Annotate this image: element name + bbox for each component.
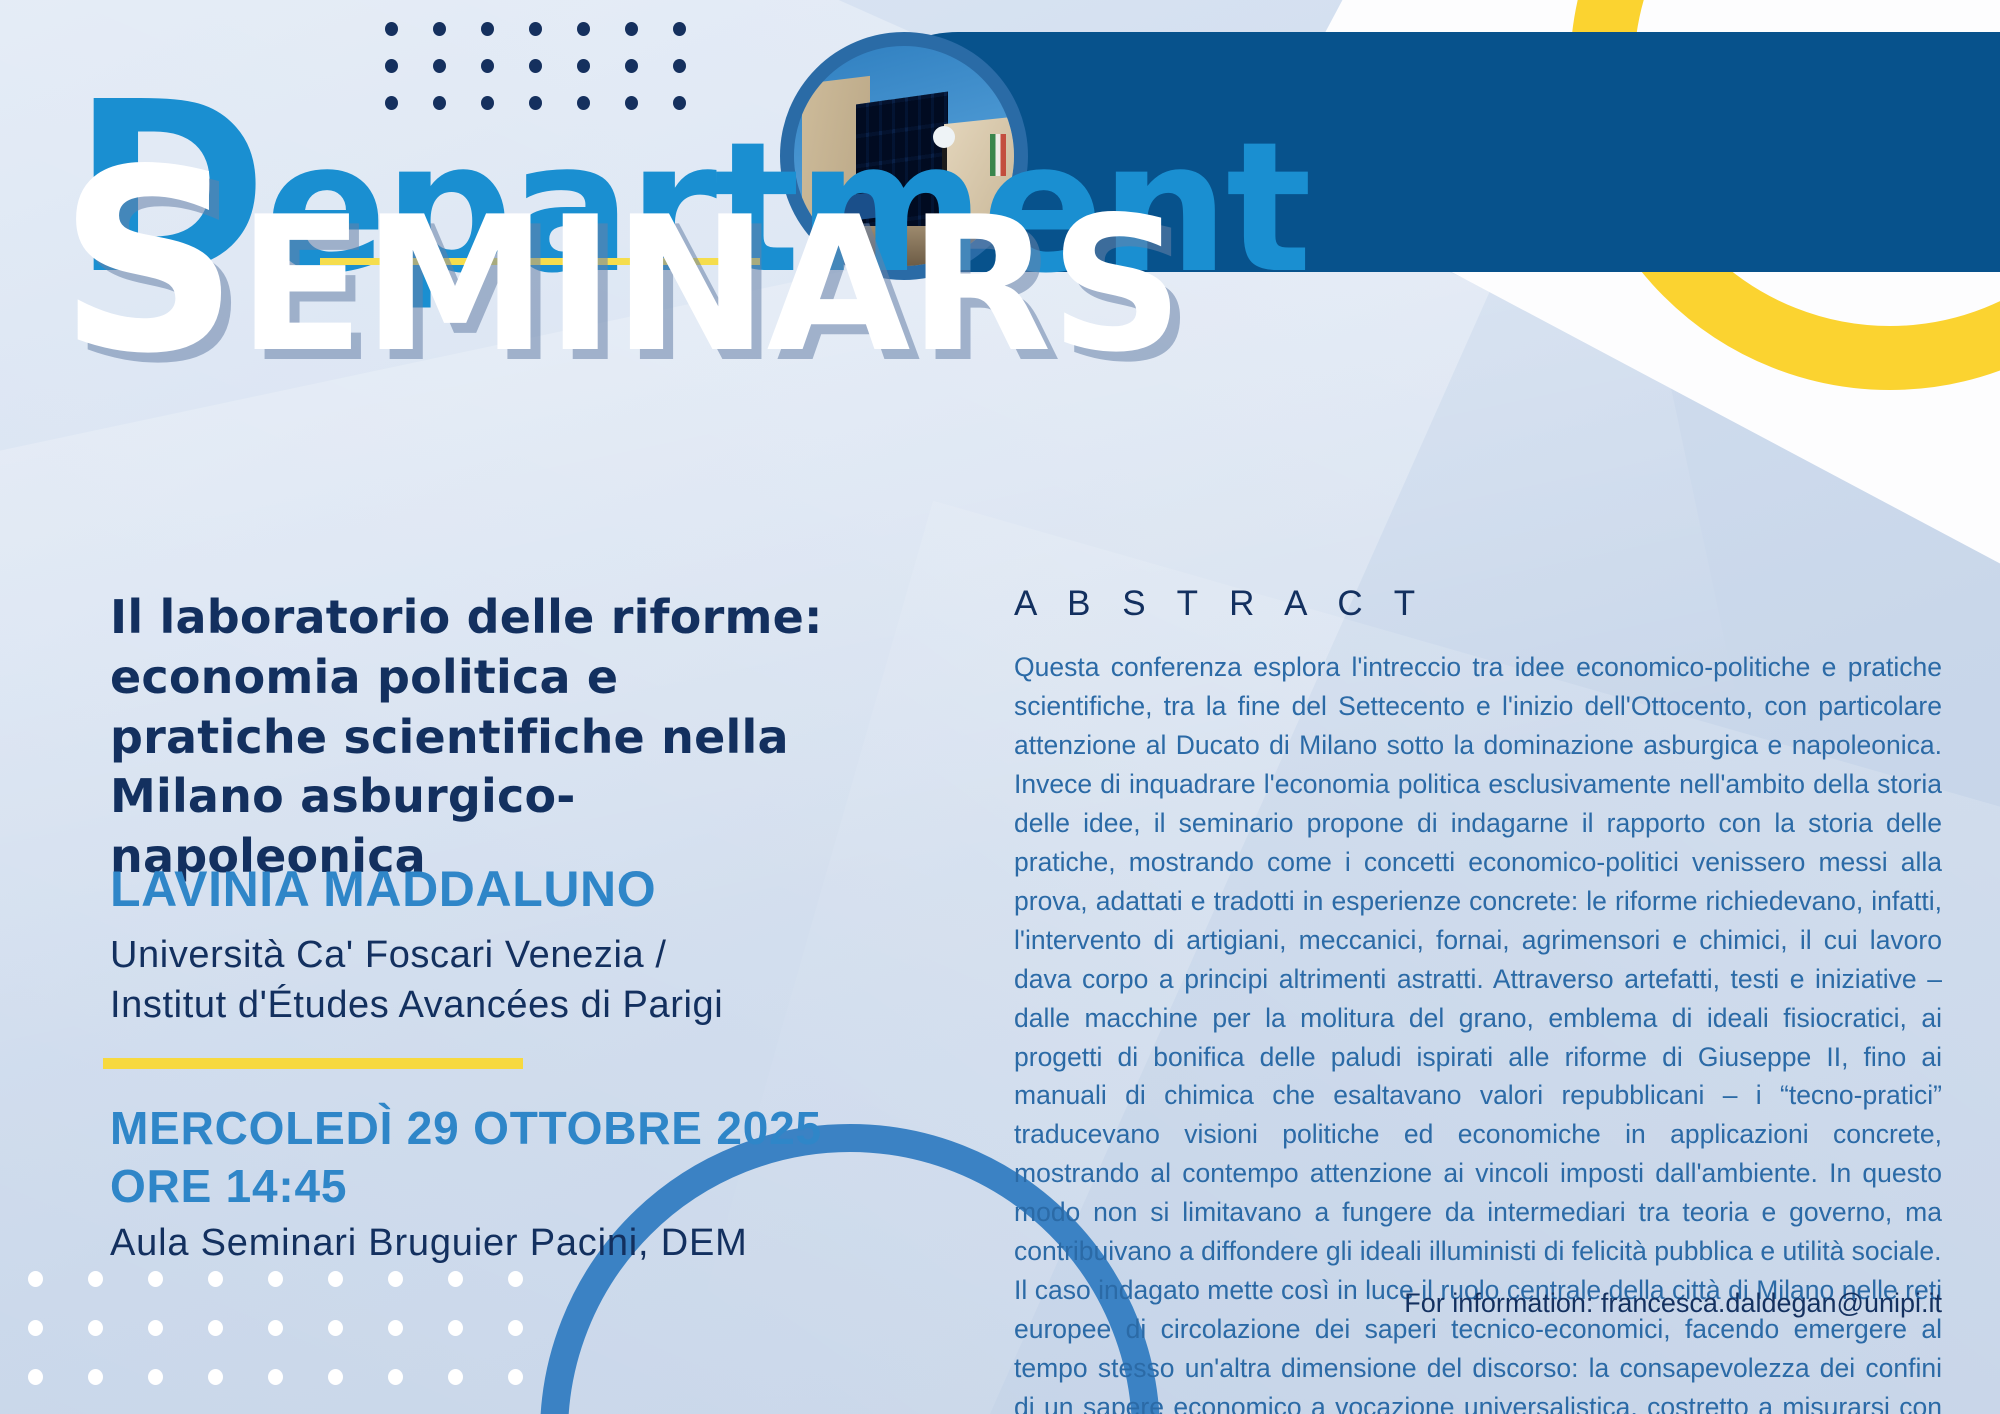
dot-grid-bottom [28,1271,568,1414]
masthead-seminars-rest: EMINARS [238,176,1182,393]
contact-info: For information: francesca.daldegan@unip… [1014,1288,1942,1319]
speaker-affiliation-line1: Università Ca' Foscari Venezia / [110,930,850,980]
speaker-name: LAVINIA MADDALUNO [110,860,870,918]
seminar-venue: Aula Seminari Bruguier Pacini, DEM [110,1222,870,1265]
abstract-paragraph-1: Questa conferenza esplora l'intreccio tr… [1014,648,1942,1271]
speaker-affiliation: Università Ca' Foscari Venezia / Institu… [110,930,850,1030]
seminar-datetime: MERCOLEDÌ 29 OTTOBRE 2025 ORE 14:45 [110,1100,870,1215]
seminar-title: Il laboratorio delle riforme: economia p… [110,588,830,887]
seminar-poster: DEM DIPARTIMENTO DI ECONOMIA E MANAGEMEN… [0,0,2000,1414]
masthead-seminars-capital: S [58,116,238,409]
speaker-affiliation-line2: Institut d'Études Avancées di Parigi [110,980,850,1030]
masthead-line-seminars: SEMINARS [58,160,1182,367]
seminar-time: ORE 14:45 [110,1158,870,1216]
abstract-heading: A B S T R A C T [1014,584,1426,624]
yellow-divider [103,1058,523,1069]
seminar-date: MERCOLEDÌ 29 OTTOBRE 2025 [110,1100,870,1158]
